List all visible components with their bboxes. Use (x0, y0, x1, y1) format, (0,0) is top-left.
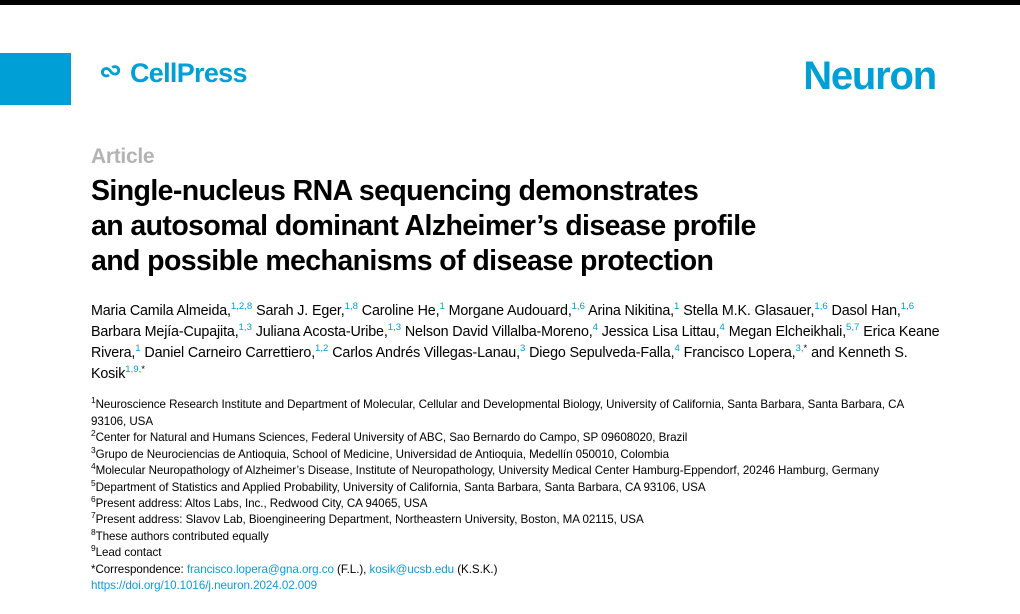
correspondence-email-1[interactable]: francisco.lopera@gna.org.co (187, 563, 334, 576)
author-entry: Morgane Audouard,1,6 (449, 303, 585, 319)
title-line: Single-nucleus RNA sequencing demonstrat… (91, 174, 951, 209)
author-affiliation-marker: 1,6 (901, 301, 914, 312)
author-affiliation-marker: 1,6 (814, 301, 827, 312)
author-entry: Carlos Andrés Villegas-Lanau,3 (332, 345, 525, 361)
affiliation-text: Present address: Altos Labs, Inc., Redwo… (96, 497, 428, 510)
author-entry: Stella M.K. Glasauer,1,6 (683, 303, 828, 319)
affiliation-text: Grupo de Neurociencias de Antioquia, Sch… (96, 448, 669, 461)
author-entry: Maria Camila Almeida,1,2,8 (91, 303, 252, 319)
doi-link[interactable]: https://doi.org/10.1016/j.neuron.2024.02… (91, 579, 317, 592)
author-entry: Barbara Mejía-Cupajita,1,3 (91, 324, 252, 340)
author-entry: Juliana Acosta-Uribe,1,3 (256, 324, 401, 340)
author-affiliation-marker: 1,6 (572, 301, 585, 312)
article-header-page: CellPress Neuron Article Single-nucleus … (0, 0, 1020, 614)
affiliation-text: Molecular Neuropathology of Alzheimer’s … (96, 464, 879, 477)
affiliation-text: Lead contact (96, 546, 162, 559)
affiliation-item: 3Grupo de Neurociencias de Antioquia, Sc… (91, 447, 941, 463)
author-affiliation-marker: 3 (520, 344, 525, 355)
affiliation-text: Center for Natural and Humans Sciences, … (96, 431, 688, 444)
author-entry: Jessica Lisa Littau,4 (602, 324, 725, 340)
author-entry: Dasol Han,1,6 (832, 303, 915, 319)
affiliation-item: 1Neuroscience Research Institute and Dep… (91, 397, 941, 430)
journal-name: Neuron (803, 56, 936, 96)
author-affiliation-marker: 1 (674, 301, 679, 312)
author-name: Maria Camila Almeida, (91, 303, 231, 319)
correspondence-initials-2: (K.S.K.) (454, 563, 497, 576)
cellpress-loops-icon (97, 61, 123, 87)
author-name: Juliana Acosta-Uribe, (256, 324, 388, 340)
author-affiliation-marker: 4 (720, 322, 725, 333)
correspondence-email-2[interactable]: kosik@ucsb.edu (370, 563, 455, 576)
cellpress-logo[interactable]: CellPress (97, 60, 247, 87)
affiliation-text: These authors contributed equally (96, 530, 269, 543)
author-affiliation-marker: 1,2,8 (231, 301, 252, 312)
author-affiliation-marker: 4 (674, 344, 679, 355)
affiliation-item: 6Present address: Altos Labs, Inc., Redw… (91, 496, 941, 512)
author-affiliation-marker: 1 (439, 301, 444, 312)
correspondence-label: *Correspondence: (91, 563, 187, 576)
author-name: Diego Sepulveda-Falla, (529, 345, 674, 361)
article-type-kicker: Article (91, 145, 951, 168)
author-name: Dasol Han, (832, 303, 901, 319)
author-affiliation-marker: 1,8 (345, 301, 358, 312)
cellpress-wordmark: CellPress (130, 60, 247, 87)
affiliation-item: 9Lead contact (91, 545, 941, 561)
correspondence-line: *Correspondence: francisco.lopera@gna.or… (91, 562, 941, 578)
affiliation-item: 4Molecular Neuropathology of Alzheimer’s… (91, 463, 941, 479)
author-entry: Diego Sepulveda-Falla,4 (529, 345, 680, 361)
author-name: Nelson David Villalba-Moreno, (405, 324, 593, 340)
correspondence-initials-1: (F.L.), (334, 563, 370, 576)
affiliation-item: 7Present address: Slavov Lab, Bioenginee… (91, 512, 941, 528)
author-entry: Francisco Lopera,3,* (684, 345, 808, 361)
author-name: Daniel Carneiro Carrettiero, (144, 345, 315, 361)
affiliation-text: Department of Statistics and Applied Pro… (96, 481, 706, 494)
title-line: and possible mechanisms of disease prote… (91, 244, 951, 279)
author-affiliation-marker: 1,3 (388, 322, 401, 333)
affiliation-item: 8These authors contributed equally (91, 529, 941, 545)
author-name: Arina Nikitina, (588, 303, 674, 319)
author-name: Megan Elcheikhali, (729, 324, 846, 340)
author-entry: Caroline He,1 (362, 303, 445, 319)
affiliation-text: Present address: Slavov Lab, Bioengineer… (96, 513, 644, 526)
affiliation-text: Neuroscience Research Institute and Depa… (91, 398, 904, 427)
author-name: Caroline He, (362, 303, 440, 319)
author-name: Carlos Andrés Villegas-Lanau, (332, 345, 520, 361)
author-name: Jessica Lisa Littau, (602, 324, 720, 340)
author-entry: Daniel Carneiro Carrettiero,1,2 (144, 345, 328, 361)
author-affiliation-marker: 5,7 (846, 322, 859, 333)
doi-line: https://doi.org/10.1016/j.neuron.2024.02… (91, 578, 941, 594)
author-name: Stella M.K. Glasauer, (683, 303, 814, 319)
masthead: CellPress Neuron (0, 48, 1020, 108)
affiliation-item: 2Center for Natural and Humans Sciences,… (91, 430, 941, 446)
author-affiliation-marker: 1,2 (315, 344, 328, 355)
author-entry: Arina Nikitina,1 (588, 303, 679, 319)
affiliation-item: 5Department of Statistics and Applied Pr… (91, 480, 941, 496)
author-entry: Nelson David Villalba-Moreno,4 (405, 324, 598, 340)
author-affiliation-marker: 3,* (796, 344, 808, 355)
author-name: Francisco Lopera, (684, 345, 796, 361)
author-affiliation-marker: 1 (135, 344, 140, 355)
affiliations-block: 1Neuroscience Research Institute and Dep… (91, 397, 941, 594)
brand-color-block (0, 53, 71, 105)
author-affiliation-marker: 1,3 (239, 322, 252, 333)
author-entry: Megan Elcheikhali,5,7 (729, 324, 860, 340)
article-header-content: Article Single-nucleus RNA sequencing de… (91, 145, 951, 595)
author-affiliation-marker: 1,9,* (125, 365, 145, 376)
author-name: Barbara Mejía-Cupajita, (91, 324, 239, 340)
title-line: an autosomal dominant Alzheimer’s diseas… (91, 209, 951, 244)
author-entry: Sarah J. Eger,1,8 (256, 303, 358, 319)
author-name: Morgane Audouard, (449, 303, 572, 319)
author-name: Sarah J. Eger, (256, 303, 345, 319)
author-affiliation-marker: 4 (593, 322, 598, 333)
author-list: Maria Camila Almeida,1,2,8 Sarah J. Eger… (91, 301, 946, 385)
page-title: Single-nucleus RNA sequencing demonstrat… (91, 174, 951, 279)
